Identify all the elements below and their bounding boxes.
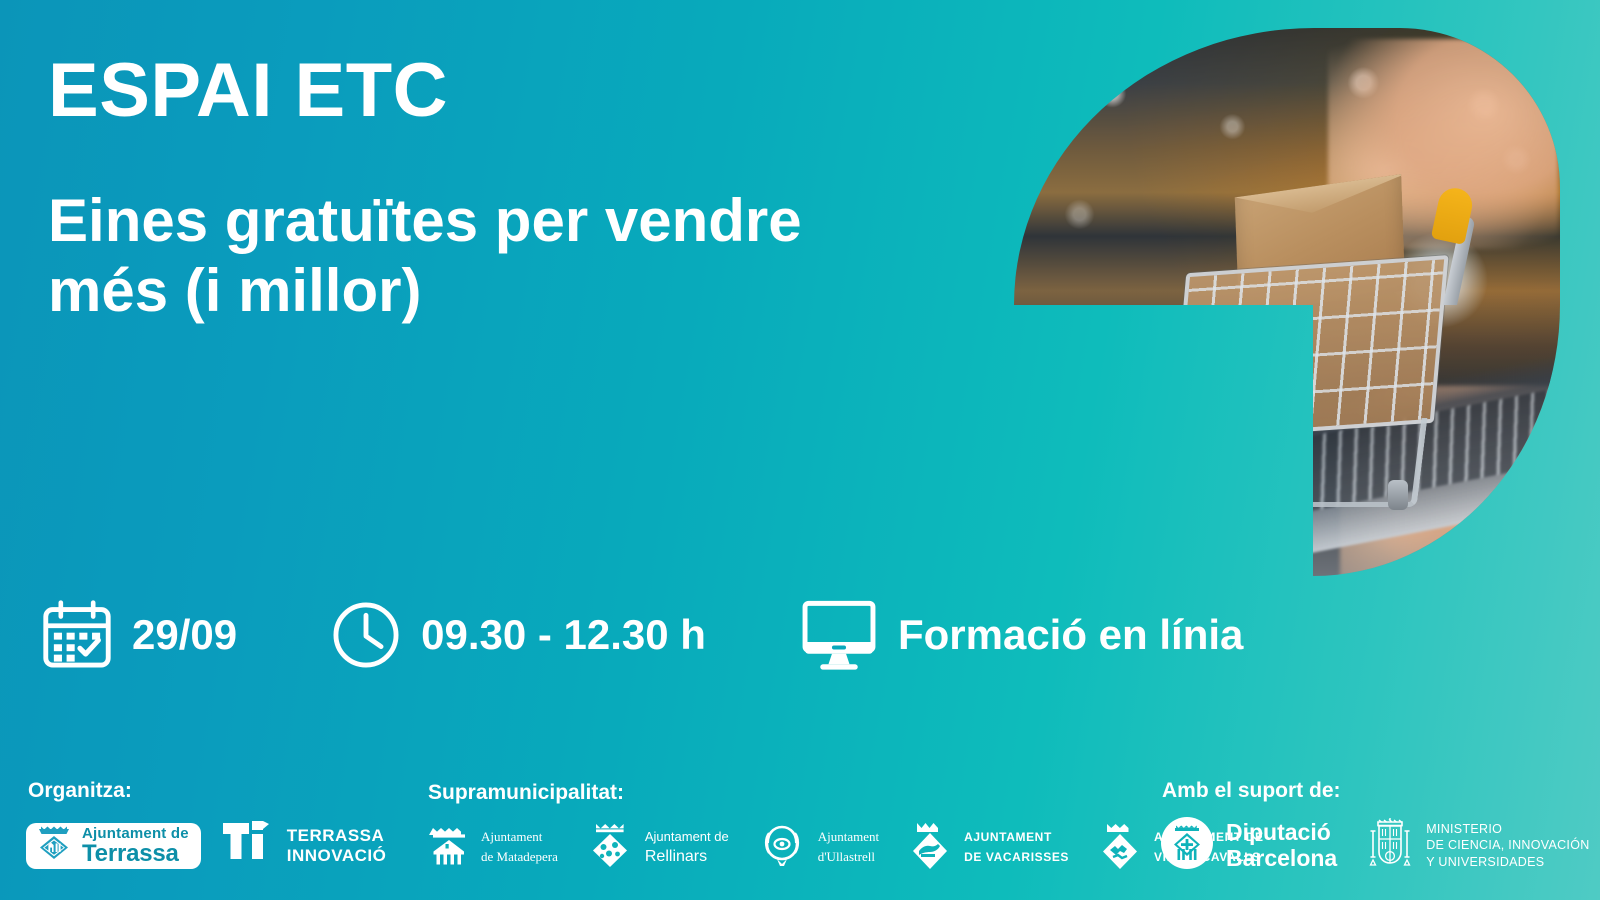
logo-terrassa-innovacio[interactable]: TERRASSA INNOVACIÓ <box>221 815 387 876</box>
logo-ministerio[interactable]: MINISTERIO DE CIENCIA, INNOVACIÓN Y UNIV… <box>1365 815 1589 876</box>
terrassa-line1: Ajuntament de <box>82 825 189 842</box>
vacarisses-line1: AJUNTAMENT <box>964 830 1052 844</box>
matadepera-text: Ajuntament de Matadepera <box>481 827 558 865</box>
terrassa-crest-icon <box>35 823 73 868</box>
diputacio-barcelona-icon <box>1160 816 1214 875</box>
event-info-row: 29/09 09.30 - 12.30 h For <box>40 596 1243 674</box>
cart-legs-lower <box>1313 418 1427 507</box>
supramunicipalitat-logos: Ajuntament de Matadepera <box>426 817 1264 876</box>
hero-photo-lower-lobe <box>1313 305 1560 576</box>
ti-line2: INNOVACIÓ <box>287 846 387 865</box>
matadepera-crest-icon <box>426 819 472 874</box>
logo-matadepera[interactable]: Ajuntament de Matadepera <box>426 819 558 874</box>
footer-group-suport: Amb el suport de: <box>1160 779 1590 876</box>
page-title: ESPAI ETC <box>48 52 968 130</box>
monitor-icon <box>798 596 880 674</box>
footer: Organitza: <box>0 750 1600 900</box>
shopping-cart-icon <box>1142 178 1472 305</box>
hero-photo <box>1014 28 1560 576</box>
organitza-label: Organitza: <box>28 779 386 803</box>
promo-poster: ESPAI ETC Eines gratuïtes per vendre més… <box>0 0 1600 900</box>
vacarisses-text: AJUNTAMENT DE VACARISSES <box>964 827 1069 865</box>
terrassa-innovacio-icon <box>221 815 277 876</box>
logo-ajuntament-terrassa[interactable]: Ajuntament de Terrassa <box>26 823 201 869</box>
vacarisses-line2: DE VACARISSES <box>964 850 1069 864</box>
event-format: Formació en línia <box>798 596 1243 674</box>
rellinars-line1: Ajuntament de <box>645 829 729 844</box>
ministerio-text: MINISTERIO DE CIENCIA, INNOVACIÓN Y UNIV… <box>1426 821 1589 871</box>
ministerio-line3: Y UNIVERSIDADES <box>1426 855 1544 869</box>
terrassa-line2: Terrassa <box>82 840 179 867</box>
ullastrell-line2: d'Ullastrell <box>818 849 875 864</box>
event-time: 09.30 - 12.30 h <box>329 598 706 672</box>
event-time-label: 09.30 - 12.30 h <box>421 611 706 659</box>
hero-photo-upper-lobe <box>1014 28 1560 305</box>
cart-wheel-back-lower <box>1388 480 1408 510</box>
logo-ullastrell[interactable]: Ajuntament d'Ullastrell <box>755 817 879 876</box>
rellinars-line2: Rellinars <box>645 848 707 865</box>
terrassa-logo-text: Ajuntament de Terrassa <box>82 826 189 866</box>
viladecavalls-crest-icon <box>1095 817 1145 876</box>
shopping-cart-lower <box>1313 305 1472 508</box>
ministerio-line1: MINISTERIO <box>1426 822 1502 836</box>
matadepera-line2: de Matadepera <box>481 849 558 864</box>
ullastrell-line1: Ajuntament <box>818 829 879 844</box>
ministerio-line2: DE CIENCIA, INNOVACIÓN <box>1426 838 1589 852</box>
diputacio-line2: Barcelona <box>1226 845 1337 871</box>
ti-line1: TERRASSA <box>287 826 385 845</box>
suport-label: Amb el suport de: <box>1162 779 1590 803</box>
headline-block: ESPAI ETC Eines gratuïtes per vendre més… <box>48 52 968 327</box>
rellinars-crest-icon <box>584 817 636 876</box>
supramunicipalitat-label: Supramunicipalitat: <box>428 781 1264 805</box>
page-subtitle: Eines gratuïtes per vendre més (i millor… <box>48 186 878 328</box>
diputacio-line1: Diputació <box>1226 819 1331 845</box>
event-date: 29/09 <box>40 598 237 672</box>
clock-icon <box>329 598 403 672</box>
event-date-label: 29/09 <box>132 611 237 659</box>
ullastrell-crest-icon <box>755 817 809 876</box>
rellinars-text: Ajuntament de Rellinars <box>645 827 729 865</box>
calendar-icon <box>40 598 114 672</box>
logo-vacarisses[interactable]: AJUNTAMENT DE VACARISSES <box>905 817 1069 876</box>
organitza-logos: Ajuntament de Terrassa TERR <box>26 815 386 876</box>
matadepera-line1: Ajuntament <box>481 829 542 844</box>
footer-group-organitza: Organitza: <box>26 779 386 876</box>
logo-diputacio-barcelona[interactable]: Diputació Barcelona <box>1160 816 1337 875</box>
vacarisses-crest-icon <box>905 817 955 876</box>
suport-logos: Diputació Barcelona <box>1160 815 1590 876</box>
logo-rellinars[interactable]: Ajuntament de Rellinars <box>584 817 729 876</box>
footer-group-supramunicipalitat: Supramunicipalitat: Ajuntament de Matade <box>426 781 1264 876</box>
ullastrell-text: Ajuntament d'Ullastrell <box>818 827 879 865</box>
ministerio-coat-of-arms-icon <box>1365 815 1415 876</box>
diputacio-text: Diputació Barcelona <box>1226 820 1337 871</box>
terrassa-innovacio-text: TERRASSA INNOVACIÓ <box>287 826 387 864</box>
event-format-label: Formació en línia <box>898 611 1243 659</box>
